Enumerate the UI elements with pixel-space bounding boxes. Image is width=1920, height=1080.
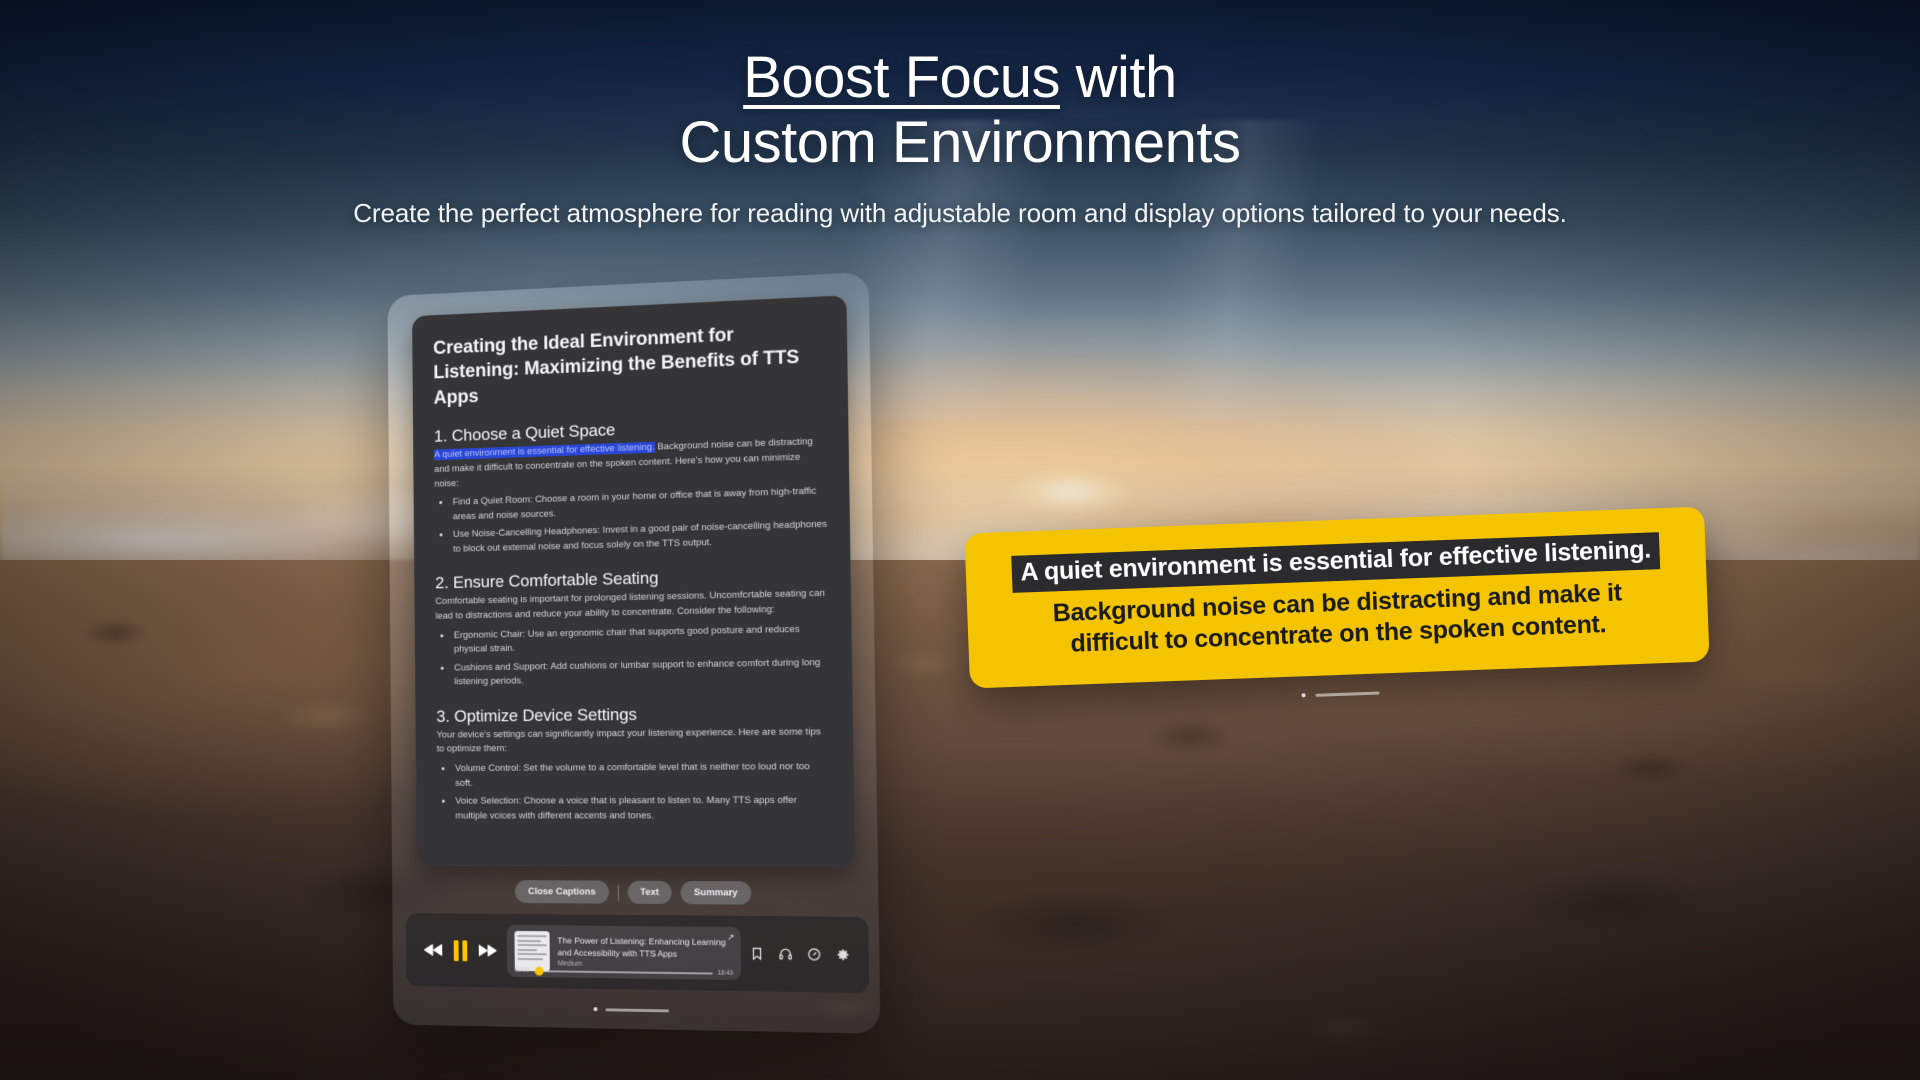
tablet-device: Creating the Ideal Environment for Liste… bbox=[387, 272, 880, 1034]
progress-bar[interactable] bbox=[534, 970, 712, 975]
document-paragraph-3: Your device's settings can significantly… bbox=[437, 725, 831, 757]
page-title: Boost Focus with Custom Environments bbox=[0, 46, 1920, 176]
caption-callout: A quiet environment is essential for eff… bbox=[964, 506, 1709, 688]
document-bullet-list-2: Ergonomic Chair: Use an ergonomic chair … bbox=[436, 622, 830, 690]
document-reader-panel[interactable]: Creating the Ideal Environment for Liste… bbox=[412, 295, 855, 867]
headline-line-1: Boost Focus with bbox=[0, 46, 1920, 111]
document-paragraph-2: Comfortable seating is important for pro… bbox=[435, 587, 828, 624]
headline-emphasis: Boost Focus bbox=[743, 45, 1060, 110]
caption-card[interactable]: A quiet environment is essential for eff… bbox=[964, 506, 1709, 688]
headline-line-1-rest: with bbox=[1060, 45, 1177, 110]
tab-summary[interactable]: Summary bbox=[681, 881, 751, 905]
page-dot[interactable] bbox=[1301, 693, 1305, 697]
document-section-heading-3: 3. Optimize Device Settings bbox=[436, 703, 830, 727]
document-thumbnail bbox=[514, 931, 549, 971]
speed-gauge-icon[interactable] bbox=[807, 947, 822, 962]
hero-copy: Boost Focus with Custom Environments Cre… bbox=[0, 0, 1920, 229]
progress-thumb[interactable] bbox=[535, 967, 544, 976]
hero-scene: Boost Focus with Custom Environments Cre… bbox=[0, 0, 1920, 1080]
headline-line-2: Custom Environments bbox=[0, 111, 1920, 176]
page-subtitle: Create the perfect atmosphere for readin… bbox=[0, 198, 1920, 229]
document-title: Creating the Ideal Environment for Liste… bbox=[433, 319, 825, 411]
time-current: 00:00 bbox=[515, 968, 530, 974]
